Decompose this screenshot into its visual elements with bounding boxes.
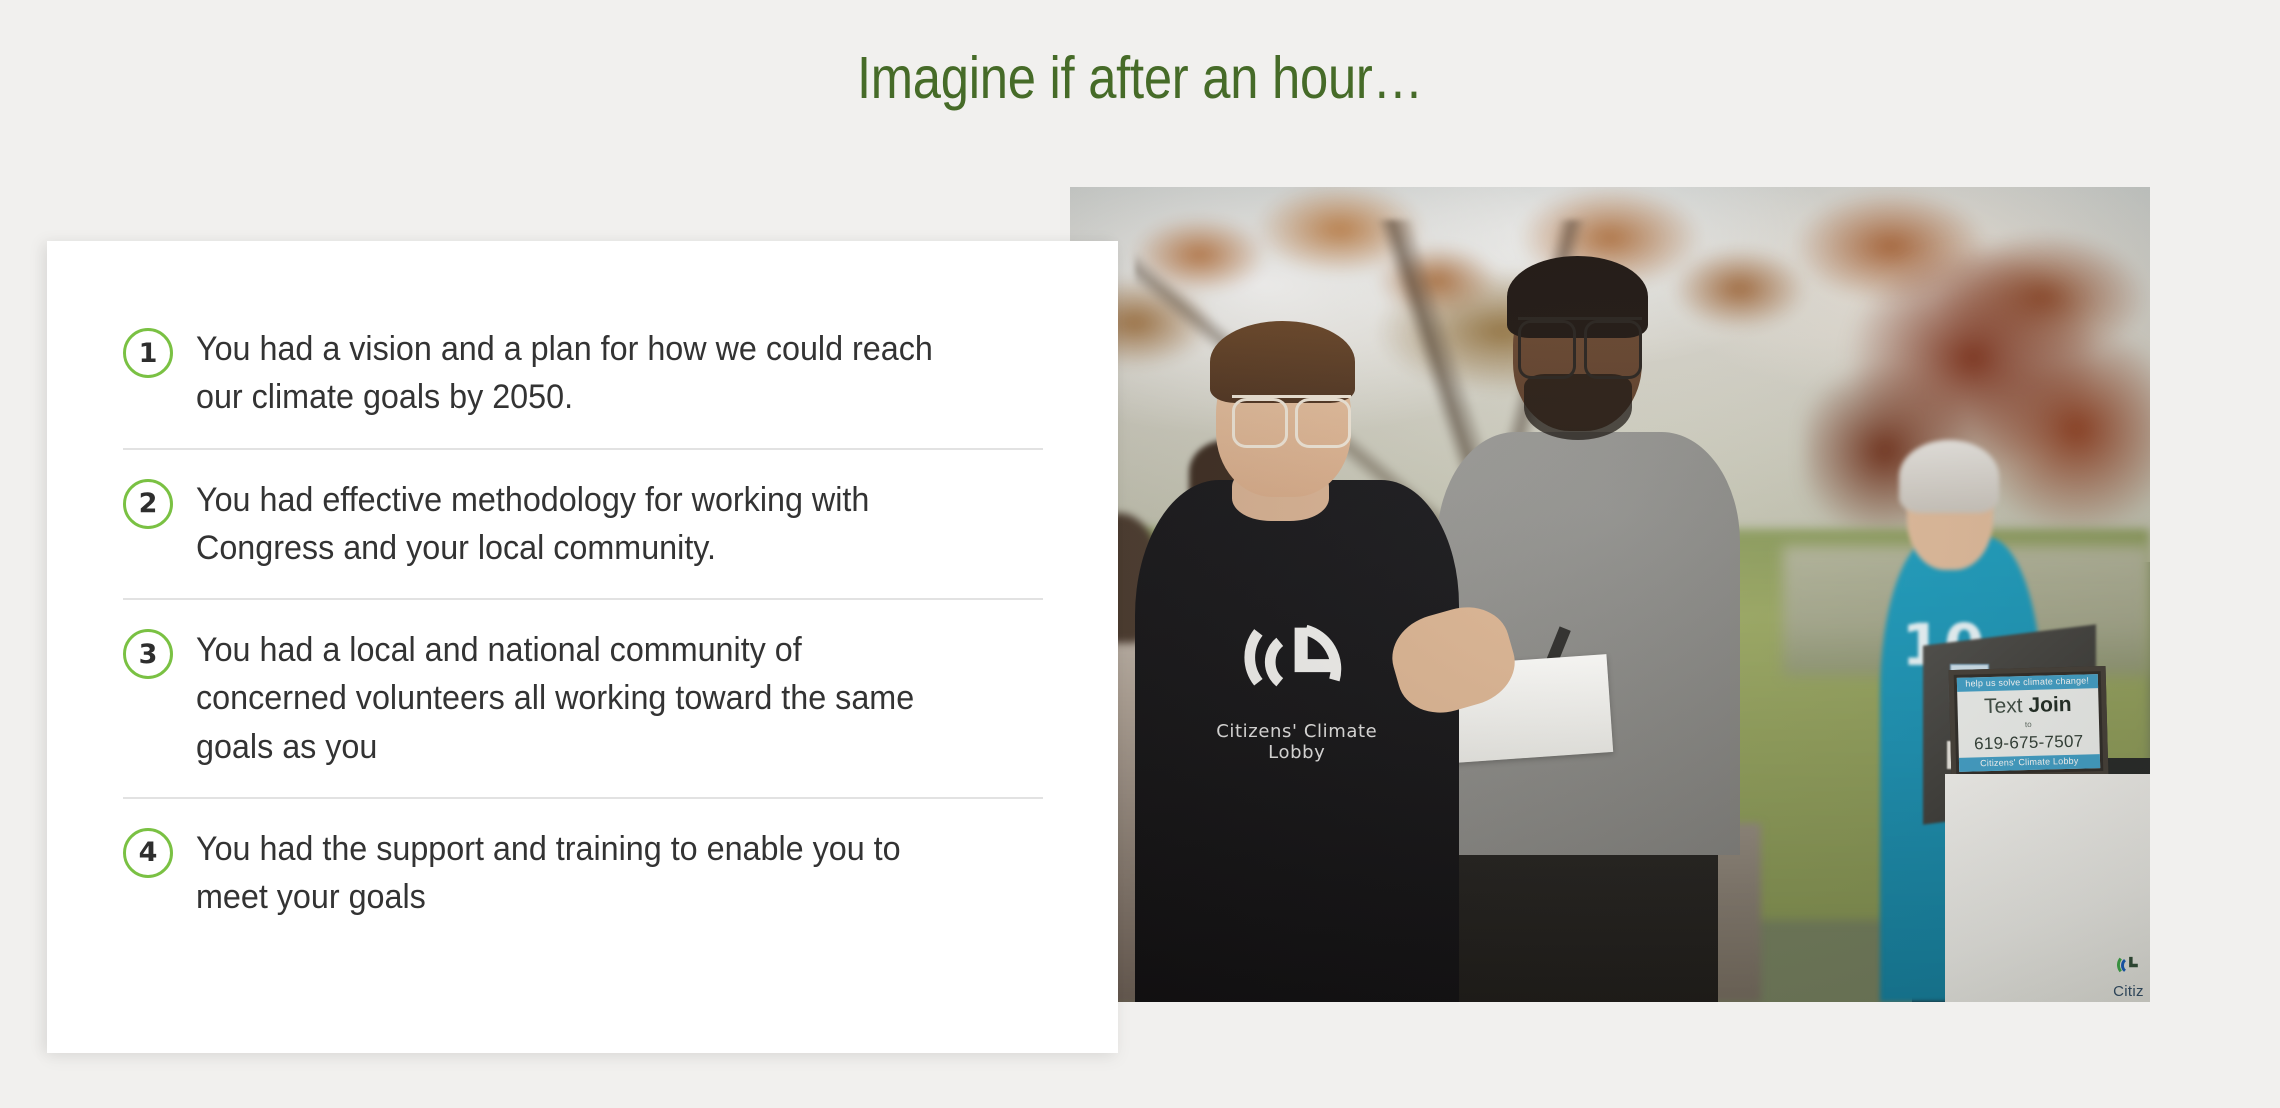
sign-phone: 619-675-7507 bbox=[1958, 732, 2099, 754]
text-join-sign: help us solve climate change! Text Join … bbox=[1949, 666, 2108, 780]
tshirt-logo-text: Citizens' Climate Lobby bbox=[1200, 721, 1394, 763]
park-photo: 10 PRICE ON CARBON help us solve climate… bbox=[1070, 187, 2150, 1002]
sign-bottom-banner: Citizens' Climate Lobby bbox=[1959, 754, 2100, 771]
list-item-text: You had a local and national community o… bbox=[196, 626, 956, 771]
sign-headline-light: Text bbox=[1984, 694, 2029, 718]
volunteer-man-right-beard bbox=[1524, 374, 1632, 439]
eyeglasses-icon bbox=[1518, 317, 1642, 353]
sign-face: help us solve climate change! Text Join … bbox=[1957, 674, 2100, 772]
content-card: 1 You had a vision and a plan for how we… bbox=[47, 241, 1118, 1053]
list-item-number-badge: 4 bbox=[123, 828, 173, 878]
list-item-text: You had the support and training to enab… bbox=[196, 825, 956, 922]
list-item-text: You had effective methodology for workin… bbox=[196, 476, 956, 573]
page-title: Imagine if after an hour… bbox=[160, 47, 2121, 111]
list-item-number-badge: 2 bbox=[123, 479, 173, 529]
sign-connector: to bbox=[1958, 719, 2099, 731]
sign-headline-bold: Join bbox=[2028, 693, 2072, 717]
photo-frame: 10 PRICE ON CARBON help us solve climate… bbox=[1070, 187, 2150, 1002]
ccl-banner: Citiz bbox=[1945, 774, 2150, 1002]
ccl-banner-logo-icon bbox=[2117, 945, 2144, 984]
list-item: 2 You had effective methodology for work… bbox=[123, 448, 1043, 599]
list-item-text: You had a vision and a plan for how we c… bbox=[196, 325, 956, 422]
list-item-number-badge: 3 bbox=[123, 629, 173, 679]
volunteer-man-left-hair bbox=[1210, 321, 1355, 403]
numbered-list: 1 You had a vision and a plan for how we… bbox=[123, 307, 1043, 947]
list-item-number-badge: 1 bbox=[123, 328, 173, 378]
eyeglasses-light-icon bbox=[1232, 395, 1351, 427]
list-item: 3 You had a local and national community… bbox=[123, 598, 1043, 797]
sign-top-banner: help us solve climate change! bbox=[1957, 674, 2098, 691]
volunteer-woman-hair bbox=[1899, 440, 1998, 513]
ccl-banner-text: Citiz bbox=[2112, 983, 2145, 1000]
sign-headline: Text Join bbox=[1957, 693, 2098, 718]
list-item: 1 You had a vision and a plan for how we… bbox=[123, 307, 1043, 448]
list-item: 4 You had the support and training to en… bbox=[123, 797, 1043, 948]
slide-root: Imagine if after an hour… 10 bbox=[0, 0, 2280, 1108]
ccl-logo-icon bbox=[1237, 595, 1356, 717]
